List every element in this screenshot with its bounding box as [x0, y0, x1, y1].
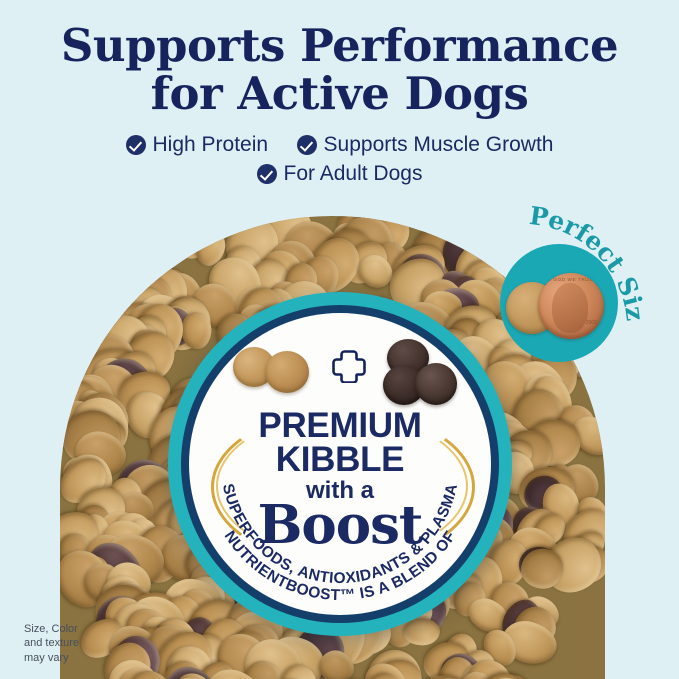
disclaimer-line-2: and texture: [24, 636, 134, 650]
infographic-canvas: Supports Performance for Active Dogs Hig…: [0, 0, 679, 679]
bullet-row-1: High Protein Supports Muscle Growth: [0, 134, 679, 155]
perfect-size-label: Perfect Size!: [488, 200, 650, 322]
badge-title-line-2: KIBBLE: [189, 443, 491, 477]
check-circle-icon: [257, 164, 277, 184]
bullet-supports-muscle-growth: Supports Muscle Growth: [297, 134, 554, 155]
badge-face: PREMIUM KIBBLE with a Boost: [189, 313, 491, 615]
bullet-label: For Adult Dogs: [284, 163, 423, 184]
perfect-size-arc-text: Perfect Size!: [488, 200, 679, 375]
page-title: Supports Performance for Active Dogs: [0, 22, 679, 117]
bullet-for-adult-dogs: For Adult Dogs: [257, 163, 423, 184]
check-circle-icon: [297, 135, 317, 155]
badge-navy-ring: PREMIUM KIBBLE with a Boost: [181, 305, 499, 623]
disclaimer-line-3: may vary: [24, 651, 134, 665]
headline-line-1: Supports Performance: [61, 19, 618, 72]
check-circle-icon: [126, 135, 146, 155]
badge-boost: Boost: [189, 499, 491, 552]
feature-bullet-list: High Protein Supports Muscle Growth For …: [0, 134, 679, 192]
bullet-label: Supports Muscle Growth: [324, 134, 554, 155]
headline-line-2: for Active Dogs: [0, 70, 679, 118]
bullet-label: High Protein: [153, 134, 269, 155]
premium-kibble-badge: PREMIUM KIBBLE with a Boost NUTRIENTBOOS…: [168, 292, 512, 636]
perfect-size-callout: IN GOD WE TRUST 2008 Perfect Size!: [488, 200, 679, 375]
disclaimer-text: Size, Color and texture may vary: [24, 622, 134, 665]
badge-title: PREMIUM KIBBLE: [189, 409, 491, 477]
disclaimer-line-1: Size, Color: [24, 622, 134, 636]
bullet-high-protein: High Protein: [126, 134, 269, 155]
plus-cross-icon: [332, 349, 366, 383]
bullet-row-2: For Adult Dogs: [0, 163, 679, 184]
kibble-piece: [402, 618, 439, 646]
